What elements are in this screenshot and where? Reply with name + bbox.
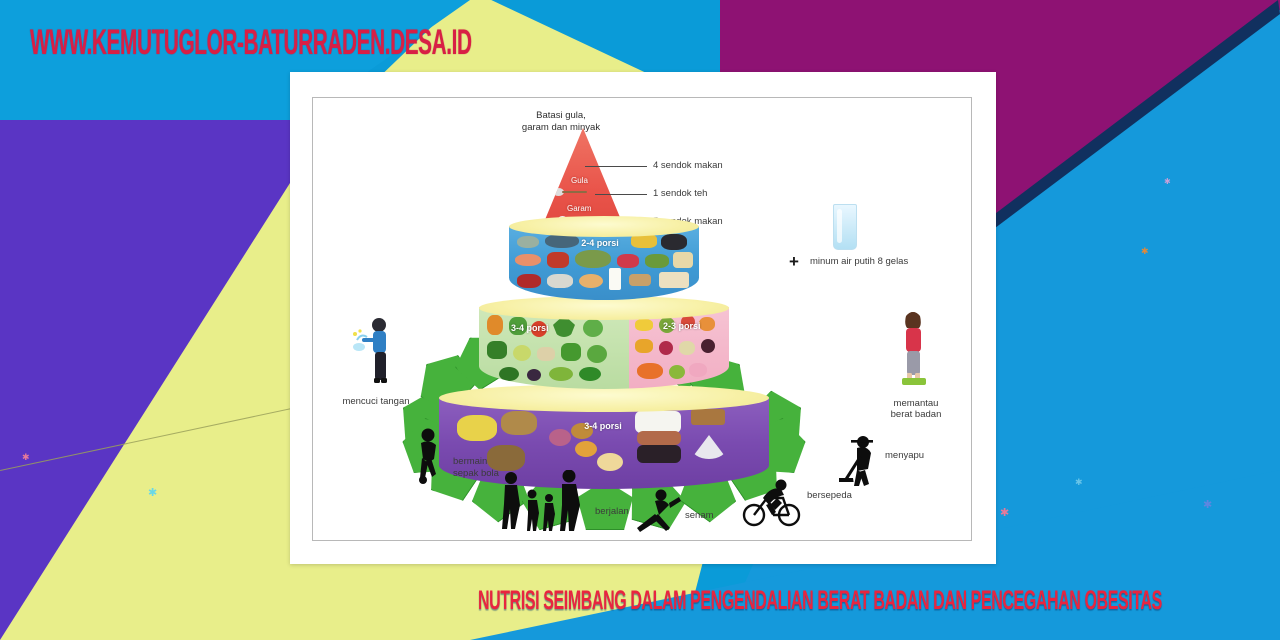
food-ubi-ungu [549, 429, 571, 446]
food-tempe [629, 274, 651, 286]
sparkle-star: ✱ [1203, 500, 1212, 511]
sparkle-star: ✱ [22, 453, 30, 462]
food-daging-2 [517, 274, 541, 288]
food-daun [499, 367, 519, 381]
food-kangkung [583, 319, 603, 337]
food-timun [549, 367, 573, 381]
food-ikan-fillet [547, 274, 573, 288]
nutrition-pyramid-poster: Batasi gula, garam dan minyak Gula Garam… [312, 97, 972, 541]
glass-of-water-icon [833, 204, 857, 250]
food-jeruk [699, 317, 715, 331]
porsi-karbohidrat: 3-4 porsi [584, 421, 622, 431]
food-jamur [537, 347, 555, 361]
food-susu [609, 268, 621, 290]
food-ubi-kuning [575, 441, 597, 457]
poster-headline: Batasi gula, garam dan minyak [481, 110, 641, 134]
food-kol [513, 345, 531, 361]
silhouette-menyapu [837, 434, 881, 490]
food-sayur-hijau [579, 367, 601, 381]
food-jagung [457, 415, 497, 441]
sparkle-star: ✱ [1075, 478, 1083, 487]
sparkle-star: ✱ [1141, 247, 1149, 256]
poster-card: Batasi gula, garam dan minyak Gula Garam… [290, 72, 996, 564]
amount-garam: 1 sendok teh [653, 188, 707, 200]
food-kentang [597, 453, 623, 471]
headline-line-2: garam dan minyak [481, 122, 641, 134]
food-wortel [487, 315, 503, 335]
spoon-sugar-icon [553, 190, 587, 195]
cone-label-gula: Gula [571, 176, 588, 185]
tier-protein-body: 2-4 porsi [509, 226, 699, 300]
porsi-protein: 2-4 porsi [581, 238, 619, 248]
leader-line-garam [595, 194, 647, 195]
food-ikan-mas [575, 250, 611, 268]
sparkle-star: ✱ [148, 488, 157, 499]
headline-line-1: Batasi gula, [481, 110, 641, 122]
sparkle-star: ✱ [1000, 508, 1009, 519]
food-buncis [587, 345, 607, 363]
label-bersepeda: bersepeda [807, 490, 852, 502]
food-tepung [691, 435, 727, 459]
food-umbi [501, 411, 537, 435]
sparkle-star: ✱ [1164, 178, 1171, 186]
silhouette-senam [631, 488, 681, 532]
food-ikan-kecil [517, 236, 539, 248]
food-nasi-merah [637, 431, 681, 445]
label-bermain: bermain [453, 456, 487, 468]
food-nasi-putih [635, 411, 681, 433]
porsi-buah: 2-3 porsi [663, 321, 701, 331]
food-pepaya [637, 363, 663, 379]
porsi-sayuran: 3-4 porsi [511, 323, 549, 333]
food-semangka [689, 363, 707, 377]
label-berat-badan: berat badan [873, 409, 959, 421]
pyramid-diagram: Batasi gula, garam dan minyak Gula Garam… [313, 98, 971, 540]
food-mie [691, 409, 725, 425]
food-telur [579, 274, 603, 288]
amount-gula: 4 sendok makan [653, 160, 723, 172]
silhouette-sepak-bola [409, 428, 447, 484]
food-udang [515, 254, 541, 266]
silhouette-bersepeda [741, 476, 803, 528]
water-label: minum air putih 8 gelas [810, 256, 908, 268]
food-tahu [673, 252, 693, 268]
food-manggis [701, 339, 715, 353]
site-watermark-top: WWW.KEMUTUGLOR-BATURRADEN.DESA.ID [30, 22, 472, 64]
label-senam: senam [685, 510, 714, 522]
food-mangga [635, 339, 653, 353]
silhouette-berjalan [499, 470, 585, 532]
food-nasi-hitam [637, 445, 681, 463]
figure-mencuci-tangan [349, 316, 399, 392]
tier-karbohidrat: 3-4 porsi [439, 384, 769, 502]
figure-memantau-berat-badan [891, 310, 937, 392]
label-mencuci-tangan: mencuci tangan [331, 396, 421, 408]
tier-protein: 2-4 porsi [509, 216, 699, 312]
label-menyapu: menyapu [885, 450, 924, 462]
food-brokoli [487, 341, 507, 359]
leader-line-gula [585, 166, 647, 167]
food-anggur [659, 341, 673, 355]
site-watermark-bottom: NUTRISI SEIMBANG DALAM PENGENDALIAN BERA… [478, 586, 1162, 617]
food-duku [679, 341, 695, 355]
cone-label-garam: Garam [567, 204, 591, 213]
food-kacang-hitam [661, 234, 687, 250]
food-pisang [635, 319, 653, 331]
label-sepak-bola: sepak bola [453, 468, 499, 480]
food-brokoli-2 [561, 343, 581, 361]
food-kacang-hijau [645, 254, 669, 268]
food-jambu [669, 365, 685, 379]
food-daging [547, 252, 569, 268]
food-terong [527, 369, 541, 381]
label-berjalan: berjalan [595, 506, 629, 518]
plus-sign: + [789, 252, 799, 272]
tier-protein-top [509, 216, 699, 237]
food-hati [617, 254, 639, 268]
food-tahu-2 [659, 272, 689, 288]
